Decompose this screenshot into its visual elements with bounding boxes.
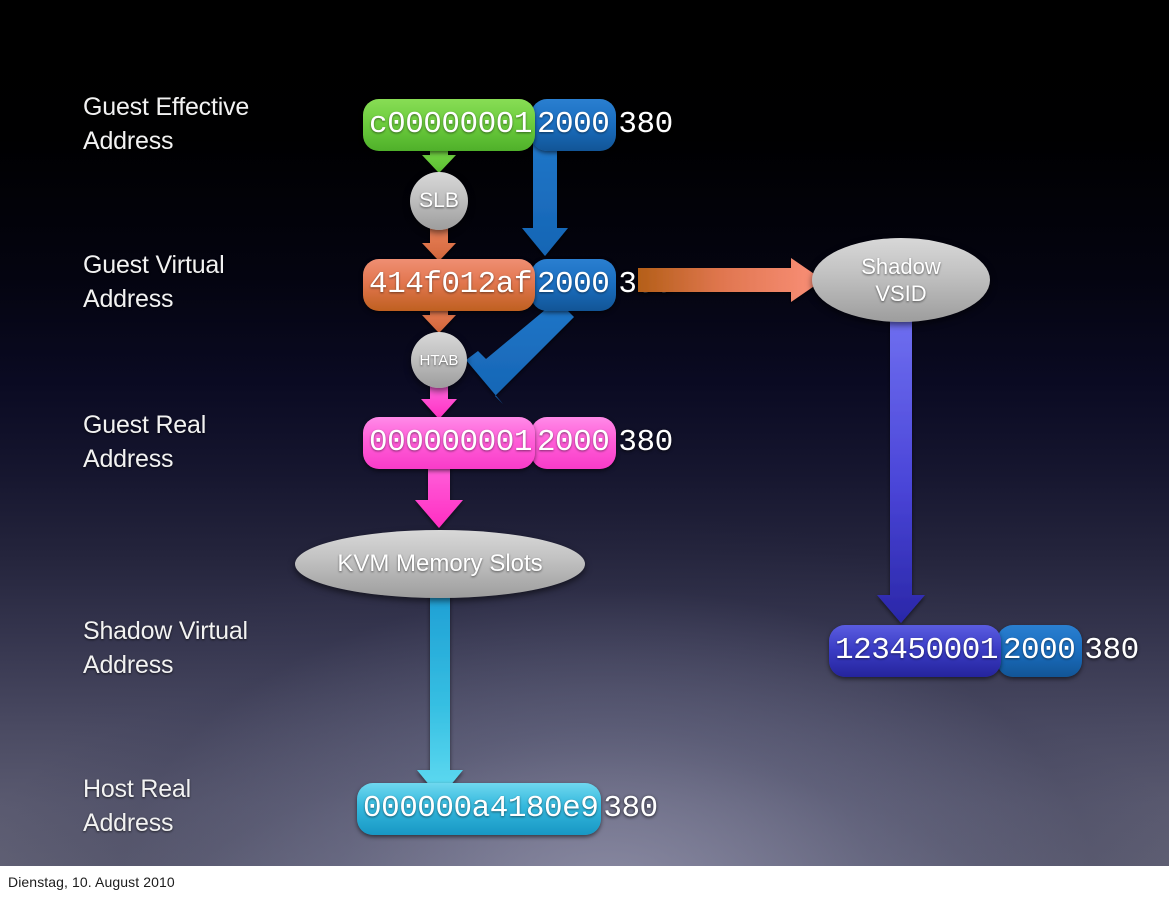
slide-background: Guest Effective Address Guest Virtual Ad… bbox=[0, 0, 1169, 866]
row-label-guest-effective-address: Guest Effective Address bbox=[83, 90, 249, 158]
row-label-guest-virtual-address: Guest Virtual Address bbox=[83, 248, 224, 316]
footer-bar bbox=[0, 866, 1169, 900]
shadow-virtual-address: 123450001 2000 380 bbox=[829, 625, 1141, 677]
row-label-guest-real-address: Guest Real Address bbox=[83, 408, 206, 476]
footer-date: Dienstag, 10. August 2010 bbox=[8, 874, 175, 890]
blue-offset-down-arrow bbox=[522, 140, 568, 256]
pink-htab-to-real-arrow bbox=[421, 386, 457, 419]
shadow-virtual-offset: 2000 bbox=[997, 625, 1082, 677]
host-real-suffix: 380 bbox=[599, 783, 659, 835]
guest-real-suffix: 380 bbox=[614, 417, 674, 469]
guest-effective-esid: c00000001 bbox=[363, 99, 535, 151]
blue-offset-to-htab-arrow bbox=[466, 300, 574, 404]
node-slb: SLB bbox=[410, 172, 468, 230]
guest-virtual-address: 414f012af 2000 380 bbox=[363, 259, 675, 311]
row-label-shadow-virtual-address: Shadow Virtual Address bbox=[83, 614, 248, 682]
node-shadow-vsid: Shadow VSID bbox=[812, 238, 990, 322]
host-real-address: 000000a4180e9 380 bbox=[357, 783, 660, 835]
slide-canvas: Guest Effective Address Guest Virtual Ad… bbox=[0, 0, 1169, 900]
guest-real-page-high: 000000001 bbox=[363, 417, 535, 469]
node-kvm-memory-slots: KVM Memory Slots bbox=[295, 530, 585, 598]
node-htab: HTAB bbox=[411, 332, 467, 388]
guest-virtual-offset: 2000 bbox=[531, 259, 616, 311]
guest-effective-suffix: 380 bbox=[614, 99, 674, 151]
guest-virtual-vsid: 414f012af bbox=[363, 259, 535, 311]
orange-slb-to-vsid-arrow bbox=[422, 228, 456, 261]
guest-real-address: 000000001 2000 380 bbox=[363, 417, 675, 469]
royal-vsid-to-shadow-va-arrow bbox=[877, 318, 925, 623]
shadow-virtual-vsid: 123450001 bbox=[829, 625, 1001, 677]
guest-virtual-suffix: 380 bbox=[614, 259, 674, 311]
row-label-host-real-address: Host Real Address bbox=[83, 772, 191, 840]
shadow-virtual-suffix: 380 bbox=[1080, 625, 1140, 677]
cyan-kvm-to-host-real-arrow bbox=[417, 592, 463, 798]
guest-effective-address: c00000001 2000 380 bbox=[363, 99, 675, 151]
guest-effective-offset: 2000 bbox=[531, 99, 616, 151]
host-real-page: 000000a4180e9 bbox=[357, 783, 601, 835]
guest-real-page-low: 2000 bbox=[531, 417, 616, 469]
